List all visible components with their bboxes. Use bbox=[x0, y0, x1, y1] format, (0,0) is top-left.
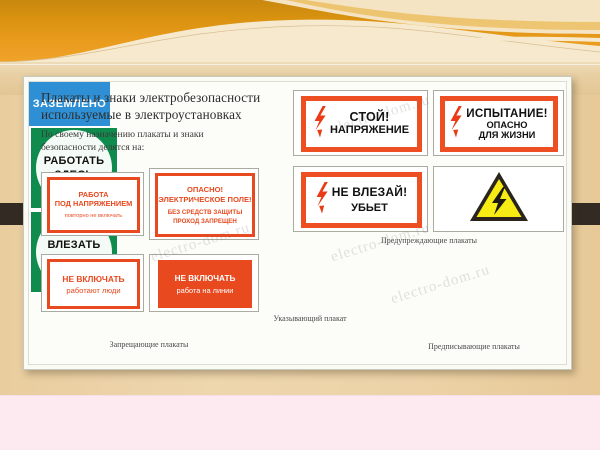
lightning-bolt-icon bbox=[450, 106, 463, 143]
sign-frame-ne-vlezaj-ubet: НЕ ВЛЕЗАЙ! УБЬЕТ bbox=[293, 166, 428, 232]
sign-stoj-napryazhenie[interactable]: СТОЙ! НАПРЯЖЕНИЕ bbox=[301, 96, 422, 152]
heading-block: Плакаты и знаки электробезопасности испо… bbox=[41, 90, 299, 154]
slide-canvas: Плакаты и знаки электробезопасности испо… bbox=[0, 0, 600, 450]
sign-electrical-hazard-triangle[interactable] bbox=[434, 167, 563, 231]
sign-rabota-pod-napryazheniem[interactable]: РАБОТА ПОД НАПРЯЖЕНИЕМ повторно не включ… bbox=[47, 177, 140, 233]
sign-line-3: ДЛЯ ЖИЗНИ bbox=[479, 130, 536, 140]
sign-frame-stoj-napryazhenie: СТОЙ! НАПРЯЖЕНИЕ bbox=[293, 90, 428, 156]
sign-line-2: ЭЛЕКТРИЧЕСКОЕ ПОЛЕ! bbox=[158, 195, 251, 205]
lightning-bolt-icon bbox=[316, 182, 329, 219]
sign-frame-ne-vklyuchat-rabota-na-linii: НЕ ВКЛЮЧАТЬ работа на линии bbox=[149, 254, 259, 312]
sign-line-1: ИСПЫТАНИЕ! bbox=[466, 108, 547, 120]
page-subtitle-line-2: безопасности делятся на: bbox=[41, 142, 299, 155]
sign-line-4: ПРОХОД ЗАПРЕЩЕН bbox=[173, 217, 237, 226]
sign-line-1: ВЛЕЗАТЬ bbox=[47, 238, 100, 252]
page-title-line-2: используемые в электроустановках bbox=[41, 107, 299, 124]
sign-line-2: НАПРЯЖЕНИЕ bbox=[330, 124, 409, 136]
sign-ne-vklyuchat-rabotayut-lyudi[interactable]: НЕ ВКЛЮЧАТЬ работают люди bbox=[47, 259, 140, 309]
sign-line-2: работа на линии bbox=[177, 285, 234, 296]
sign-frame-ispytanie-opasno-dlya-zhizni: ИСПЫТАНИЕ! ОПАСНО ДЛЯ ЖИЗНИ bbox=[433, 90, 564, 156]
sign-line-1: ОПАСНО! bbox=[187, 185, 223, 195]
sign-line-2: работают люди bbox=[66, 285, 120, 296]
background-divider-line bbox=[0, 64, 600, 65]
lightning-bolt-glyph bbox=[314, 106, 327, 138]
background-footer-band bbox=[0, 395, 600, 450]
sign-line-1: СТОЙ! bbox=[350, 111, 390, 124]
page-title-line-1: Плакаты и знаки электробезопасности bbox=[41, 90, 299, 107]
page-subtitle-line-1: По своему назначению плакаты и знаки bbox=[41, 129, 299, 142]
background-footer-divider bbox=[0, 395, 600, 396]
sign-text-block: НЕ ВЛЕЗАЙ! УБЬЕТ bbox=[332, 186, 408, 214]
group-caption-prohibiting: Запрещающие плакаты bbox=[49, 340, 249, 349]
sign-frame-ne-vklyuchat-rabotayut-lyudi: НЕ ВКЛЮЧАТЬ работают люди bbox=[41, 254, 144, 312]
sign-line-3: повторно не включать bbox=[65, 212, 122, 221]
sign-text-block: ИСПЫТАНИЕ! ОПАСНО ДЛЯ ЖИЗНИ bbox=[466, 108, 547, 141]
group-caption-indicating: Указывающий плакат bbox=[261, 314, 359, 323]
sign-line-1: НЕ ВКЛЮЧАТЬ bbox=[175, 273, 236, 285]
sign-frame-rabota-pod-napryazheniem: РАБОТА ПОД НАПРЯЖЕНИЕМ повторно не включ… bbox=[41, 172, 144, 236]
sign-ne-vklyuchat-rabota-na-linii[interactable]: НЕ ВКЛЮЧАТЬ работа на линии bbox=[158, 260, 252, 308]
sign-line-1: НЕ ВКЛЮЧАТЬ bbox=[62, 273, 124, 285]
sign-line-2: ОПАСНО bbox=[486, 120, 527, 130]
warning-triangle-lightning-icon bbox=[468, 170, 530, 229]
sign-line-1: РАБОТАТЬ bbox=[44, 154, 104, 168]
content-card-inner: Плакаты и знаки электробезопасности испо… bbox=[28, 81, 567, 365]
sign-line-3: БЕЗ СРЕДСТВ ЗАЩИТЫ bbox=[168, 208, 243, 217]
sign-line-2: УБЬЕТ bbox=[351, 202, 388, 214]
sign-line-1: РАБОТА bbox=[78, 190, 108, 199]
warning-triangle-glyph bbox=[468, 170, 530, 224]
content-card: Плакаты и знаки электробезопасности испо… bbox=[23, 76, 572, 370]
lightning-bolt-glyph bbox=[450, 106, 463, 138]
sign-opasno-elektricheskoe-pole[interactable]: ОПАСНО! ЭЛЕКТРИЧЕСКОЕ ПОЛЕ! БЕЗ СРЕДСТВ … bbox=[155, 173, 255, 237]
sign-ne-vlezaj-ubet[interactable]: НЕ ВЛЕЗАЙ! УБЬЕТ bbox=[301, 172, 422, 228]
page-title: Плакаты и знаки электробезопасности испо… bbox=[41, 90, 299, 123]
sign-line-2: ПОД НАПРЯЖЕНИЕМ bbox=[55, 199, 133, 208]
sign-ispytanie-opasno-dlya-zhizni[interactable]: ИСПЫТАНИЕ! ОПАСНО ДЛЯ ЖИЗНИ bbox=[440, 96, 558, 152]
lightning-bolt-glyph bbox=[316, 182, 329, 214]
lightning-bolt-icon bbox=[314, 106, 327, 143]
background-swoosh-decoration bbox=[0, 0, 600, 70]
group-caption-prescribing: Предписывающие плакаты bbox=[399, 342, 549, 351]
page-subtitle: По своему назначению плакаты и знаки без… bbox=[41, 129, 299, 154]
sign-frame-electrical-hazard-triangle bbox=[433, 166, 564, 232]
sign-line-1: НЕ ВЛЕЗАЙ! bbox=[332, 186, 408, 199]
group-caption-warning: Предупреждающие плакаты bbox=[329, 236, 529, 245]
sign-frame-opasno-elektricheskoe-pole: ОПАСНО! ЭЛЕКТРИЧЕСКОЕ ПОЛЕ! БЕЗ СРЕДСТВ … bbox=[149, 168, 259, 240]
sign-text-block: СТОЙ! НАПРЯЖЕНИЕ bbox=[330, 111, 409, 136]
watermark-4: electro-dom.ru bbox=[389, 262, 492, 308]
